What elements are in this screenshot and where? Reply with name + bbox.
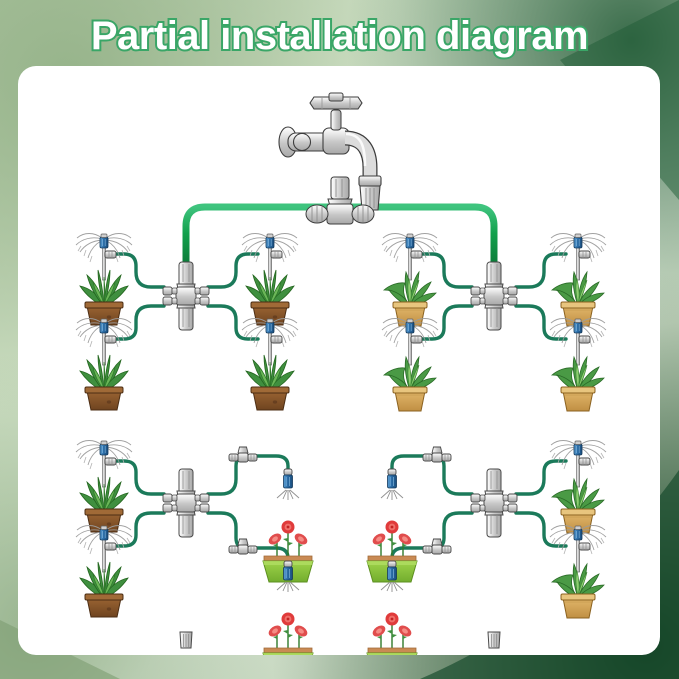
page-title: Partial installation diagram <box>0 8 679 64</box>
plant-group-left-inner-2 <box>242 319 298 411</box>
plant-group-right-outer-1 <box>550 234 606 327</box>
stake-sprinkler <box>76 234 132 281</box>
stake-sprinkler <box>382 234 438 281</box>
plant-group-right-inner-2 <box>382 319 438 412</box>
four-way-manifold-left-upper <box>163 262 209 330</box>
irrigation-diagram <box>18 66 660 655</box>
potted-plant-brown <box>246 355 294 410</box>
potted-plant-brown <box>80 355 128 410</box>
plant-group-lower-left-2 <box>76 526 132 618</box>
four-way-manifold-right-lower <box>471 469 517 537</box>
faucet <box>279 93 381 210</box>
tube-branch-l1-downleft <box>116 306 164 339</box>
tube-branch-r1-downleft <box>422 306 472 339</box>
plant-group-lower-right-1 <box>550 441 606 534</box>
plant-group-lower-right-2 <box>550 526 606 619</box>
stake-sprinkler <box>242 319 298 366</box>
plant-group-left-outer-2 <box>76 319 132 411</box>
plant-group-left-inner-1 <box>242 234 298 326</box>
stake-sprinkler <box>76 441 132 488</box>
four-way-manifold-left-lower <box>163 469 209 537</box>
tube-branch-l2-downleft <box>116 513 164 546</box>
tube-branch-r2-outleft <box>424 456 472 494</box>
tube-branch-l1-downright <box>208 306 258 339</box>
tube-branch-l2-downright <box>208 513 256 548</box>
barbed-tee-left-lower <box>229 539 257 554</box>
tube-branch-r2-outright <box>516 461 566 494</box>
stake-sprinkler <box>550 441 606 488</box>
plant-group-right-outer-2 <box>550 319 606 412</box>
tube-branch-r1-outright <box>516 254 566 287</box>
mist-dripper <box>277 469 299 500</box>
stake-sprinkler <box>242 234 298 281</box>
plant-group-right-inner-1 <box>382 234 438 327</box>
potted-plant-brown <box>80 562 128 617</box>
flower-box <box>263 613 313 656</box>
tube-branch-l2-outright <box>208 456 256 494</box>
barbed-tee-left-upper <box>229 447 257 462</box>
stake-sprinkler <box>76 319 132 366</box>
stake-sprinkler <box>550 526 606 573</box>
plant-group-left-outer-1 <box>76 234 132 326</box>
end-cap-left <box>180 632 192 648</box>
tube-branch-r1-outleft <box>422 254 472 287</box>
tubing-network <box>116 172 566 638</box>
page-title-text: Partial installation diagram <box>91 8 588 64</box>
end-cap-right <box>488 632 500 648</box>
barbed-tee-right-upper <box>423 447 451 462</box>
stake-sprinkler <box>550 319 606 366</box>
potted-plant-brown <box>80 270 128 325</box>
potted-plant-brown <box>80 477 128 532</box>
stake-sprinkler <box>76 526 132 573</box>
tube-branch-l1-outright <box>208 254 258 287</box>
plant-group-lower-left-1 <box>76 441 132 533</box>
tube-branch-l1-outleft <box>116 254 164 287</box>
barbed-tee-right-lower <box>423 539 451 554</box>
four-way-manifold-right-upper <box>471 262 517 330</box>
tube-branch-l2-outleft <box>116 461 164 494</box>
stake-sprinkler <box>382 319 438 366</box>
stake-sprinkler <box>550 234 606 281</box>
tube-branch-r1-downright <box>516 306 566 339</box>
tube-branch-r2-downleft <box>424 513 472 548</box>
tube-branch-r2-downright <box>516 513 566 546</box>
potted-plant-brown <box>246 270 294 325</box>
flower-box <box>367 613 417 656</box>
mist-dripper <box>381 469 403 500</box>
